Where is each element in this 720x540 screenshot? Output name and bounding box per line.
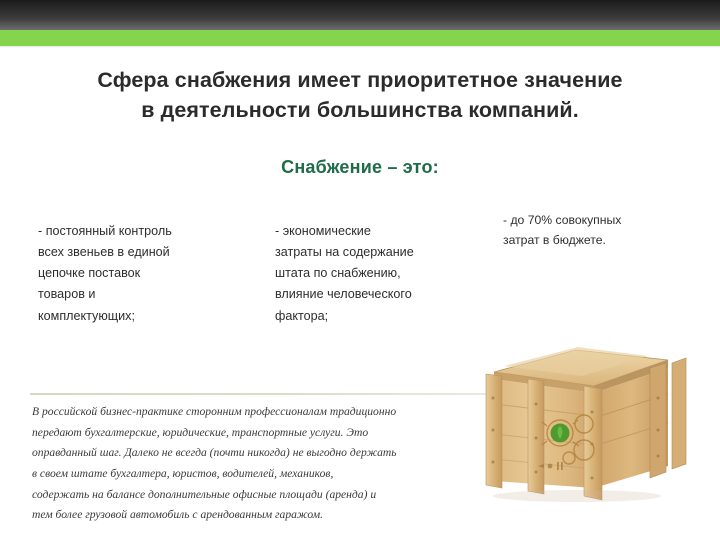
footnote-line: оправданный шаг. Далеко не всегда (почти… — [32, 443, 484, 464]
column-line: штата по снабжению, — [275, 263, 480, 284]
column-line: фактора; — [275, 306, 480, 327]
column-line: влияние человеческого — [275, 284, 480, 305]
footnote-paragraph: В российской бизнес-практике сторонним п… — [32, 402, 484, 526]
note-divider — [30, 393, 492, 395]
column-line: цепочке поставок — [38, 263, 253, 284]
crate-shadow — [493, 490, 661, 502]
footnote-line: содержать на балансе дополнительные офис… — [32, 485, 484, 506]
column-line: затрат в бюджете. — [503, 231, 708, 251]
page-title-line-2: в деятельности большинства компаний. — [45, 96, 675, 126]
footnote-line: В российской бизнес-практике сторонним п… — [32, 402, 484, 423]
top-green-accent-bar — [0, 30, 720, 46]
text-column-costs: - экономические затраты на содержание шт… — [275, 221, 480, 327]
top-dark-bar — [0, 0, 720, 30]
top-bar-shadow — [0, 46, 720, 48]
column-line: - постоянный контроль — [38, 221, 253, 242]
text-column-control: - постоянный контроль всех звеньев в еди… — [38, 221, 253, 327]
page-subtitle: Снабжение – это: — [110, 157, 610, 178]
text-column-budget: - до 70% совокупных затрат в бюджете. — [503, 211, 708, 250]
column-line: товаров и — [38, 284, 253, 305]
column-line: комплектующих; — [38, 306, 253, 327]
footnote-line: тем более грузовой автомобиль с арендова… — [32, 505, 484, 526]
page-title-line-1: Сфера снабжения имеет приоритетное значе… — [45, 66, 675, 96]
page-title: Сфера снабжения имеет приоритетное значе… — [45, 66, 675, 125]
column-line: - экономические — [275, 221, 480, 242]
wooden-crate-image — [472, 338, 700, 508]
column-line: затраты на содержание — [275, 242, 480, 263]
footnote-line: передают бухгалтерские, юридические, тра… — [32, 423, 484, 444]
column-line: всех звеньев в единой — [38, 242, 253, 263]
slide-canvas: Сфера снабжения имеет приоритетное значе… — [0, 0, 720, 540]
column-line: - до 70% совокупных — [503, 211, 708, 231]
footnote-line: в своем штате бухгалтера, юристов, водит… — [32, 464, 484, 485]
